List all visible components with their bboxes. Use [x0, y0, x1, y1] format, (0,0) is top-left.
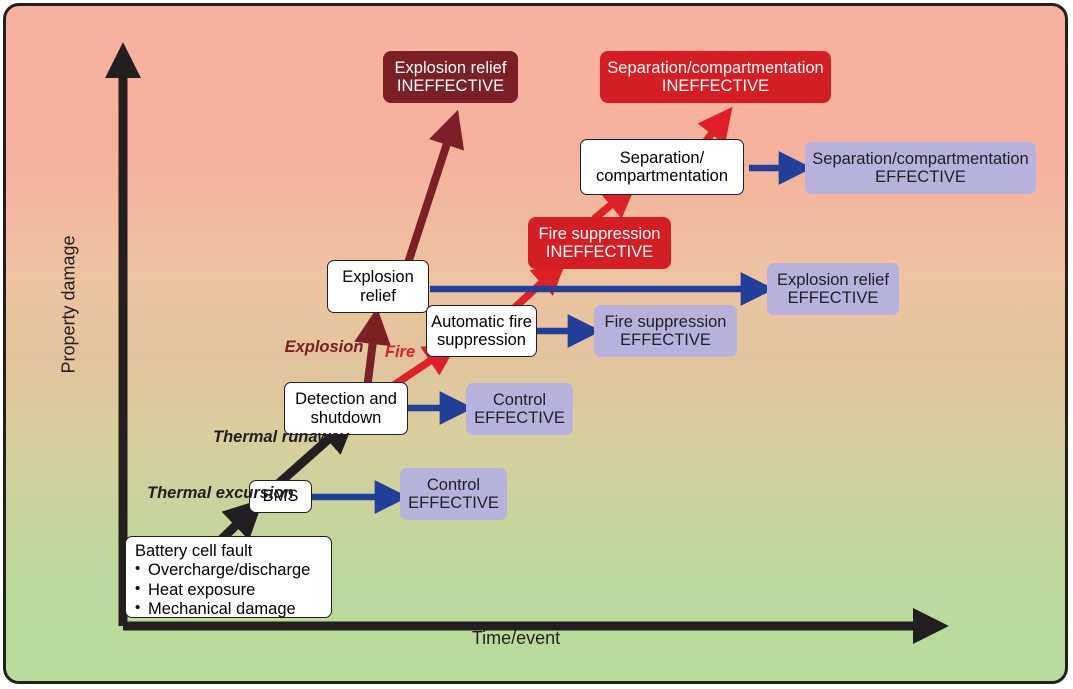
node-label-line2: INEFFECTIVE [546, 243, 653, 261]
node-label-line2: relief [360, 287, 396, 305]
node-label-line2: EFFECTIVE [474, 409, 565, 427]
node-label-line1: Explosion [342, 268, 414, 286]
figure-frame: Property damage Time/event Battery cell … [3, 3, 1068, 684]
node-label-line2: shutdown [311, 409, 382, 427]
list-item: Overcharge/discharge [135, 561, 310, 580]
node-label-line1: Separation/compartmentation [607, 59, 823, 77]
node-label-line2: INEFFECTIVE [662, 77, 769, 95]
node-fire-suppression-ineffective[interactable]: Fire suppression INEFFECTIVE [528, 217, 671, 269]
edge-label-thermal-runaway: Thermal runaway [213, 428, 315, 447]
node-label-line1: Fire suppression [539, 225, 661, 243]
node-label-line1: Fire suppression [605, 313, 727, 331]
edge-label-thermal-excursion: Thermal excursion [147, 484, 255, 503]
node-label-line1: Separation/compartmentation [812, 150, 1028, 168]
node-label-line2: EFFECTIVE [788, 289, 879, 307]
node-label-line2: suppression [437, 331, 526, 349]
node-fire-suppression-effective[interactable]: Fire suppression EFFECTIVE [594, 305, 737, 357]
node-separation-ineffective[interactable]: Separation/compartmentation INEFFECTIVE [600, 51, 831, 103]
node-automatic-fire-suppression[interactable]: Automatic fire suppression [426, 305, 537, 357]
edge-label-line1: Thermal [147, 484, 211, 502]
edge-label-line2: excursion [216, 484, 294, 502]
list-item: Heat exposure [135, 581, 310, 600]
list-item: Mechanical damage [135, 600, 310, 619]
edge-label-line1: Thermal [213, 428, 277, 446]
edge-label-text: Explosion [285, 338, 364, 356]
node-explosion-relief[interactable]: Explosion relief [327, 260, 429, 313]
battery-fault-title: Battery cell fault [135, 542, 252, 561]
x-axis-label: Time/event [406, 628, 626, 649]
node-control-effective-upper[interactable]: Control EFFECTIVE [466, 383, 573, 435]
node-label-line2: EFFECTIVE [620, 331, 711, 349]
node-label-line1: Detection and [295, 390, 397, 408]
node-label-line1: Automatic fire [431, 313, 532, 331]
node-label-line1: Control [493, 391, 546, 409]
node-explosion-relief-effective[interactable]: Explosion relief EFFECTIVE [767, 263, 899, 315]
edge-label-text: Fire [385, 343, 415, 361]
node-label-line1: Control [427, 476, 480, 494]
node-separation-compartmentation[interactable]: Separation/ compartmentation [580, 139, 744, 195]
edge-label-explosion: Explosion [279, 338, 369, 357]
edge-label-fire: Fire [378, 343, 422, 362]
node-battery-cell-fault[interactable]: Battery cell fault Overcharge/discharge … [125, 536, 332, 618]
battery-fault-bullets: Overcharge/discharge Heat exposure Mecha… [135, 561, 310, 619]
node-label-line2: EFFECTIVE [875, 168, 966, 186]
node-label-line2: INEFFECTIVE [397, 77, 504, 95]
arrow-separation-to-ineffective [706, 114, 727, 141]
node-control-effective-lower[interactable]: Control EFFECTIVE [400, 468, 507, 520]
node-explosion-relief-ineffective[interactable]: Explosion relief INEFFECTIVE [383, 51, 518, 103]
node-label-line1: Explosion relief [777, 271, 889, 289]
node-label-line1: Separation/ [620, 149, 704, 167]
node-label-line1: Explosion relief [395, 59, 507, 77]
node-separation-effective[interactable]: Separation/compartmentation EFFECTIVE [805, 142, 1036, 194]
node-label-line2: compartmentation [596, 167, 728, 185]
node-label-line2: EFFECTIVE [408, 494, 499, 512]
event-tree-figure: Property damage Time/event Battery cell … [0, 0, 1073, 689]
y-axis-label: Property damage [59, 205, 80, 405]
edge-label-line2: runaway [282, 428, 349, 446]
